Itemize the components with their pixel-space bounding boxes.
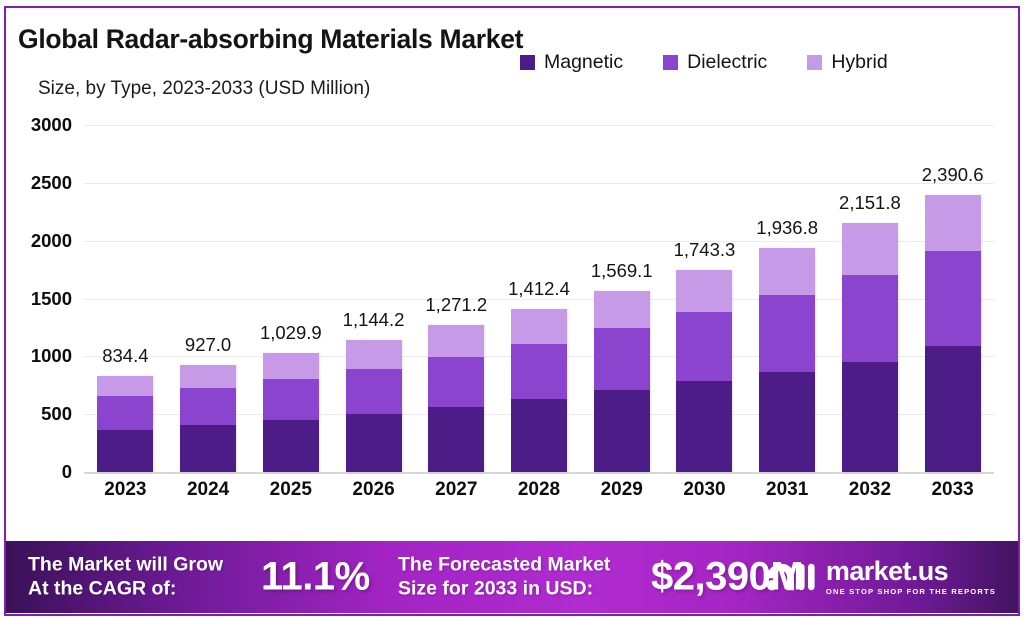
bar-stack[interactable]: 1,144.2	[346, 340, 402, 472]
logo-tagline: ONE STOP SHOP FOR THE REPORTS	[826, 588, 996, 596]
bar-segment-magnetic[interactable]	[97, 430, 153, 472]
bar-stack[interactable]: 2,390.6	[925, 195, 981, 472]
bar-total-label: 1,271.2	[425, 294, 487, 316]
bar-segment-dielectric[interactable]	[428, 357, 484, 407]
bar-stack[interactable]: 1,029.9	[263, 353, 319, 472]
bar-stack[interactable]: 1,271.2	[428, 325, 484, 472]
x-axis-tick-label: 2025	[270, 479, 312, 501]
bar-segment-magnetic[interactable]	[511, 399, 567, 472]
bar-total-label: 834.4	[102, 345, 148, 367]
bar-segment-magnetic[interactable]	[594, 390, 650, 472]
bar-segment-hybrid[interactable]	[263, 353, 319, 379]
y-axis-tick-label: 500	[6, 403, 72, 425]
bar-segment-dielectric[interactable]	[346, 369, 402, 414]
chart-infographic: Global Radar-absorbing Materials Market …	[0, 0, 1024, 621]
y-axis-tick-label: 2500	[6, 172, 72, 194]
bar-stack[interactable]: 1,743.3	[676, 270, 732, 472]
bar-total-label: 1,144.2	[343, 309, 405, 331]
bar-group[interactable]: 1,743.3	[676, 270, 732, 472]
bar-total-label: 1,569.1	[591, 260, 653, 282]
bar-total-label: 1,029.9	[260, 322, 322, 344]
x-axis-tick-label: 2026	[352, 479, 394, 501]
logo-name: market.us	[826, 558, 996, 585]
bar-stack[interactable]: 1,936.8	[759, 248, 815, 472]
x-axis-tick-label: 2033	[931, 479, 973, 501]
bar-group[interactable]: 834.4	[97, 376, 153, 472]
bar-total-label: 1,743.3	[674, 239, 736, 261]
x-axis-tick-label: 2031	[766, 479, 808, 501]
bar-segment-hybrid[interactable]	[842, 223, 898, 275]
bar-segment-hybrid[interactable]	[180, 365, 236, 388]
logo-text: market.us ONE STOP SHOP FOR THE REPORTS	[826, 558, 996, 596]
x-axis-tick-label: 2028	[518, 479, 560, 501]
bar-series: 834.4927.01,029.91,144.21,271.21,412.41,…	[84, 0, 994, 520]
bar-segment-hybrid[interactable]	[97, 376, 153, 396]
bar-segment-magnetic[interactable]	[925, 346, 981, 472]
bar-segment-hybrid[interactable]	[676, 270, 732, 311]
cagr-label: The Market will Grow At the CAGR of:	[28, 553, 223, 602]
bar-segment-dielectric[interactable]	[676, 312, 732, 382]
bar-group[interactable]: 1,144.2	[346, 340, 402, 472]
y-axis-tick-label: 0	[6, 461, 72, 483]
bar-segment-magnetic[interactable]	[428, 407, 484, 472]
bar-segment-dielectric[interactable]	[180, 388, 236, 425]
bar-segment-magnetic[interactable]	[676, 381, 732, 472]
bar-stack[interactable]: 927.0	[180, 365, 236, 472]
x-axis-tick-label: 2029	[601, 479, 643, 501]
bar-segment-dielectric[interactable]	[759, 295, 815, 373]
bar-group[interactable]: 1,569.1	[594, 291, 650, 472]
bar-stack[interactable]: 1,569.1	[594, 291, 650, 472]
bar-group[interactable]: 1,936.8	[759, 248, 815, 472]
bar-stack[interactable]: 2,151.8	[842, 223, 898, 472]
bar-segment-magnetic[interactable]	[346, 414, 402, 472]
bar-group[interactable]: 2,390.6	[925, 195, 981, 472]
bar-segment-magnetic[interactable]	[180, 425, 236, 472]
bar-stack[interactable]: 834.4	[97, 376, 153, 472]
bar-total-label: 2,390.6	[922, 164, 984, 186]
bar-group[interactable]: 1,271.2	[428, 325, 484, 472]
bar-total-label: 1,936.8	[756, 217, 818, 239]
y-axis-tick-label: 2000	[6, 230, 72, 252]
bar-segment-hybrid[interactable]	[594, 291, 650, 328]
market-us-logo[interactable]: market.us ONE STOP SHOP FOR THE REPORTS	[764, 558, 996, 596]
forecast-label: The Forecasted Market Size for 2033 in U…	[398, 553, 610, 602]
bar-stack[interactable]: 1,412.4	[511, 309, 567, 472]
bar-group[interactable]: 1,412.4	[511, 309, 567, 472]
bar-segment-hybrid[interactable]	[428, 325, 484, 357]
y-axis-tick-label: 1500	[6, 288, 72, 310]
cagr-label-line1: The Market will Grow	[28, 553, 223, 577]
x-axis-tick-label: 2027	[435, 479, 477, 501]
bar-total-label: 1,412.4	[508, 278, 570, 300]
x-axis-tick-label: 2030	[683, 479, 725, 501]
bar-segment-hybrid[interactable]	[759, 248, 815, 295]
bar-segment-hybrid[interactable]	[925, 195, 981, 250]
x-axis-tick-label: 2032	[849, 479, 891, 501]
bar-segment-magnetic[interactable]	[842, 362, 898, 472]
summary-banner: The Market will Grow At the CAGR of: 11.…	[6, 541, 1018, 613]
bar-segment-hybrid[interactable]	[346, 340, 402, 369]
cagr-value: 11.1%	[261, 555, 370, 600]
bar-segment-hybrid[interactable]	[511, 309, 567, 344]
bar-segment-magnetic[interactable]	[759, 372, 815, 472]
bar-total-label: 927.0	[185, 334, 231, 356]
cagr-label-line2: At the CAGR of:	[28, 577, 223, 601]
bar-group[interactable]: 2,151.8	[842, 223, 898, 472]
bar-segment-dielectric[interactable]	[97, 396, 153, 430]
y-axis-ticks: 050010001500200025003000	[6, 0, 72, 520]
bar-segment-magnetic[interactable]	[263, 420, 319, 472]
market-us-logo-icon	[764, 560, 816, 594]
y-axis-tick-label: 3000	[6, 114, 72, 136]
bar-group[interactable]: 1,029.9	[263, 353, 319, 472]
bar-segment-dielectric[interactable]	[594, 328, 650, 391]
bar-segment-dielectric[interactable]	[925, 251, 981, 346]
forecast-label-line2: Size for 2033 in USD:	[398, 577, 610, 601]
forecast-label-line1: The Forecasted Market	[398, 553, 610, 577]
bar-segment-dielectric[interactable]	[511, 344, 567, 400]
bar-group[interactable]: 927.0	[180, 365, 236, 472]
plot-area: 050010001500200025003000 834.4927.01,029…	[0, 0, 1016, 520]
x-axis-tick-label: 2023	[104, 479, 146, 501]
bar-segment-dielectric[interactable]	[842, 275, 898, 362]
bar-segment-dielectric[interactable]	[263, 379, 319, 420]
bar-total-label: 2,151.8	[839, 192, 901, 214]
y-axis-tick-label: 1000	[6, 345, 72, 367]
x-axis-tick-label: 2024	[187, 479, 229, 501]
